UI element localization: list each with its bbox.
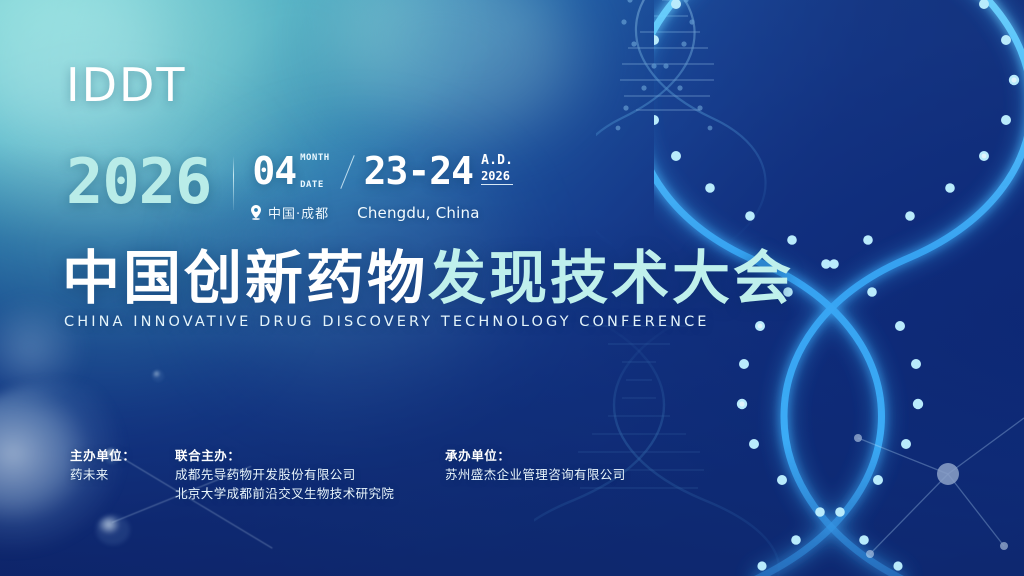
organizer-line: 药未来 bbox=[70, 465, 175, 484]
vertical-divider bbox=[233, 156, 234, 210]
organizer-line: 成都先导药物开发股份有限公司 bbox=[175, 465, 445, 484]
title-cn-accent: 发现技术大会 bbox=[428, 244, 794, 312]
event-location-cn: 中国·成都 bbox=[268, 203, 329, 222]
ad-year: 2026 bbox=[481, 169, 513, 185]
organizer-line: 苏州盛杰企业管理咨询有限公司 bbox=[445, 465, 705, 484]
event-day-range: 23-24 bbox=[364, 152, 473, 190]
page-subtitle: CHINA INNOVATIVE DRUG DISCOVERY TECHNOLO… bbox=[64, 314, 710, 330]
date-slash-divider bbox=[330, 152, 364, 190]
organizer-column: 联合主办： 成都先导药物开发股份有限公司 北京大学成都前沿交叉生物技术研究院 bbox=[175, 446, 445, 503]
location-pin-icon bbox=[250, 205, 262, 220]
month-label: MONTH bbox=[300, 153, 330, 163]
organizer-heading: 承办单位： bbox=[445, 446, 705, 465]
event-date-group: 04 MONTH DATE 23-24 A.D. 2026 bbox=[252, 152, 513, 190]
ad-label: A.D. bbox=[481, 154, 513, 168]
conference-poster: IDDT 2026 04 MONTH DATE 23-24 A.D. 2026 bbox=[0, 0, 1024, 576]
organizer-section: 主办单位： 药未来 联合主办： 成都先导药物开发股份有限公司 北京大学成都前沿交… bbox=[70, 446, 705, 503]
organizer-heading: 联合主办： bbox=[175, 446, 445, 465]
organizer-column: 主办单位： 药未来 bbox=[70, 446, 175, 484]
ad-year-group: A.D. 2026 bbox=[481, 152, 513, 185]
month-date-labels: MONTH DATE bbox=[300, 152, 330, 190]
event-date-row: 04 MONTH DATE 23-24 A.D. 2026 bbox=[252, 152, 513, 190]
event-location-en: Chengdu, China bbox=[357, 204, 479, 222]
organizer-line: 北京大学成都前沿交叉生物技术研究院 bbox=[175, 484, 445, 503]
event-month-number: 04 bbox=[252, 152, 296, 190]
event-year: 2026 bbox=[66, 152, 211, 212]
title-cn-primary: 中国创新药物 bbox=[62, 244, 428, 312]
brand-logo: IDDT bbox=[66, 62, 187, 108]
event-location-row: 中国·成都 Chengdu, China bbox=[250, 203, 480, 222]
poster-content: IDDT 2026 04 MONTH DATE 23-24 A.D. 2026 bbox=[0, 0, 1024, 576]
organizer-column: 承办单位： 苏州盛杰企业管理咨询有限公司 bbox=[445, 446, 705, 484]
brand-logo-text: IDDT bbox=[66, 62, 187, 108]
page-title: 中国创新药物发现技术大会 bbox=[62, 247, 794, 309]
organizer-heading: 主办单位： bbox=[70, 446, 175, 465]
date-label: DATE bbox=[300, 180, 330, 190]
